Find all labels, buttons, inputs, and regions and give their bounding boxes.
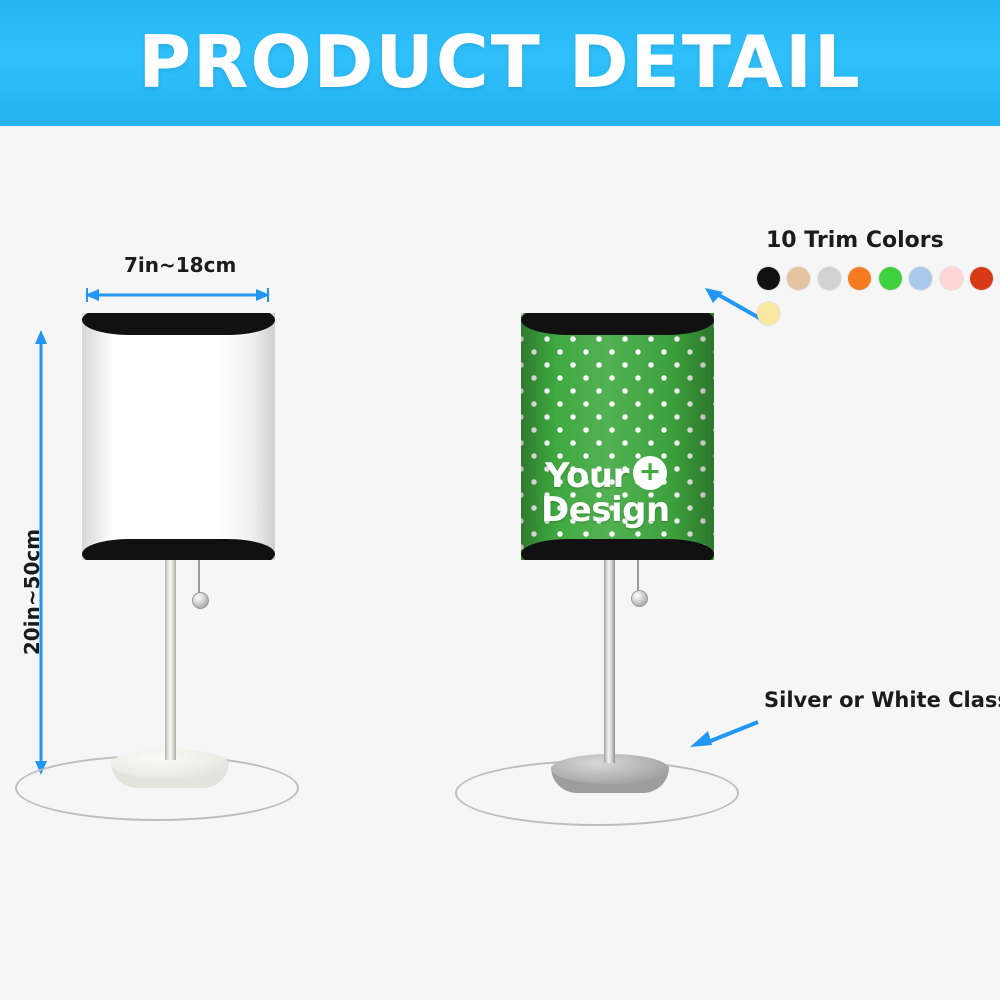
trim-colors-label: 10 Trim Colors <box>766 228 944 253</box>
swatch-red[interactable] <box>970 267 993 290</box>
swatch-pink[interactable] <box>940 267 963 290</box>
green-lamp-design-text-line2: Design <box>541 490 670 530</box>
white-lamp-trim-bottom <box>82 539 275 560</box>
header-banner: PRODUCT DETAIL <box>0 0 1000 126</box>
green-lamp-shade: Your + Design <box>521 313 714 560</box>
swatch-orange[interactable] <box>848 267 871 290</box>
width-dimension-label: 7in~18cm <box>124 253 236 277</box>
green-lamp-pull-knob[interactable] <box>631 590 648 607</box>
green-lamp-trim-bottom <box>521 539 714 560</box>
white-lamp-shade-body <box>82 313 275 560</box>
green-lamp-trim-top <box>521 313 714 335</box>
base-finish-label: Silver or White Classy <box>764 688 1000 712</box>
swatch-light-blue[interactable] <box>909 267 932 290</box>
swatch-black[interactable] <box>757 267 780 290</box>
base-pointer-arrow-icon <box>690 718 762 748</box>
height-arrow-icon <box>34 330 48 775</box>
white-lamp-pull-knob[interactable] <box>192 592 209 609</box>
page-title: PRODUCT DETAIL <box>0 16 1000 108</box>
swatch-tan[interactable] <box>787 267 810 290</box>
white-lamp-trim-top <box>82 313 275 335</box>
swatch-cream[interactable] <box>757 302 780 325</box>
green-lamp-pole <box>604 558 615 763</box>
product-detail-canvas: PRODUCT DETAIL 7in~18cm 20in~50cm 10 Tri… <box>0 0 1000 1000</box>
trim-color-swatch-group <box>757 267 997 337</box>
white-lamp-pole <box>165 560 176 760</box>
width-arrow-icon <box>85 288 270 302</box>
swatch-light-gray[interactable] <box>818 267 841 290</box>
green-lamp-design-badge: + <box>633 456 667 490</box>
white-lamp-shade <box>82 313 275 560</box>
swatch-green[interactable] <box>879 267 902 290</box>
